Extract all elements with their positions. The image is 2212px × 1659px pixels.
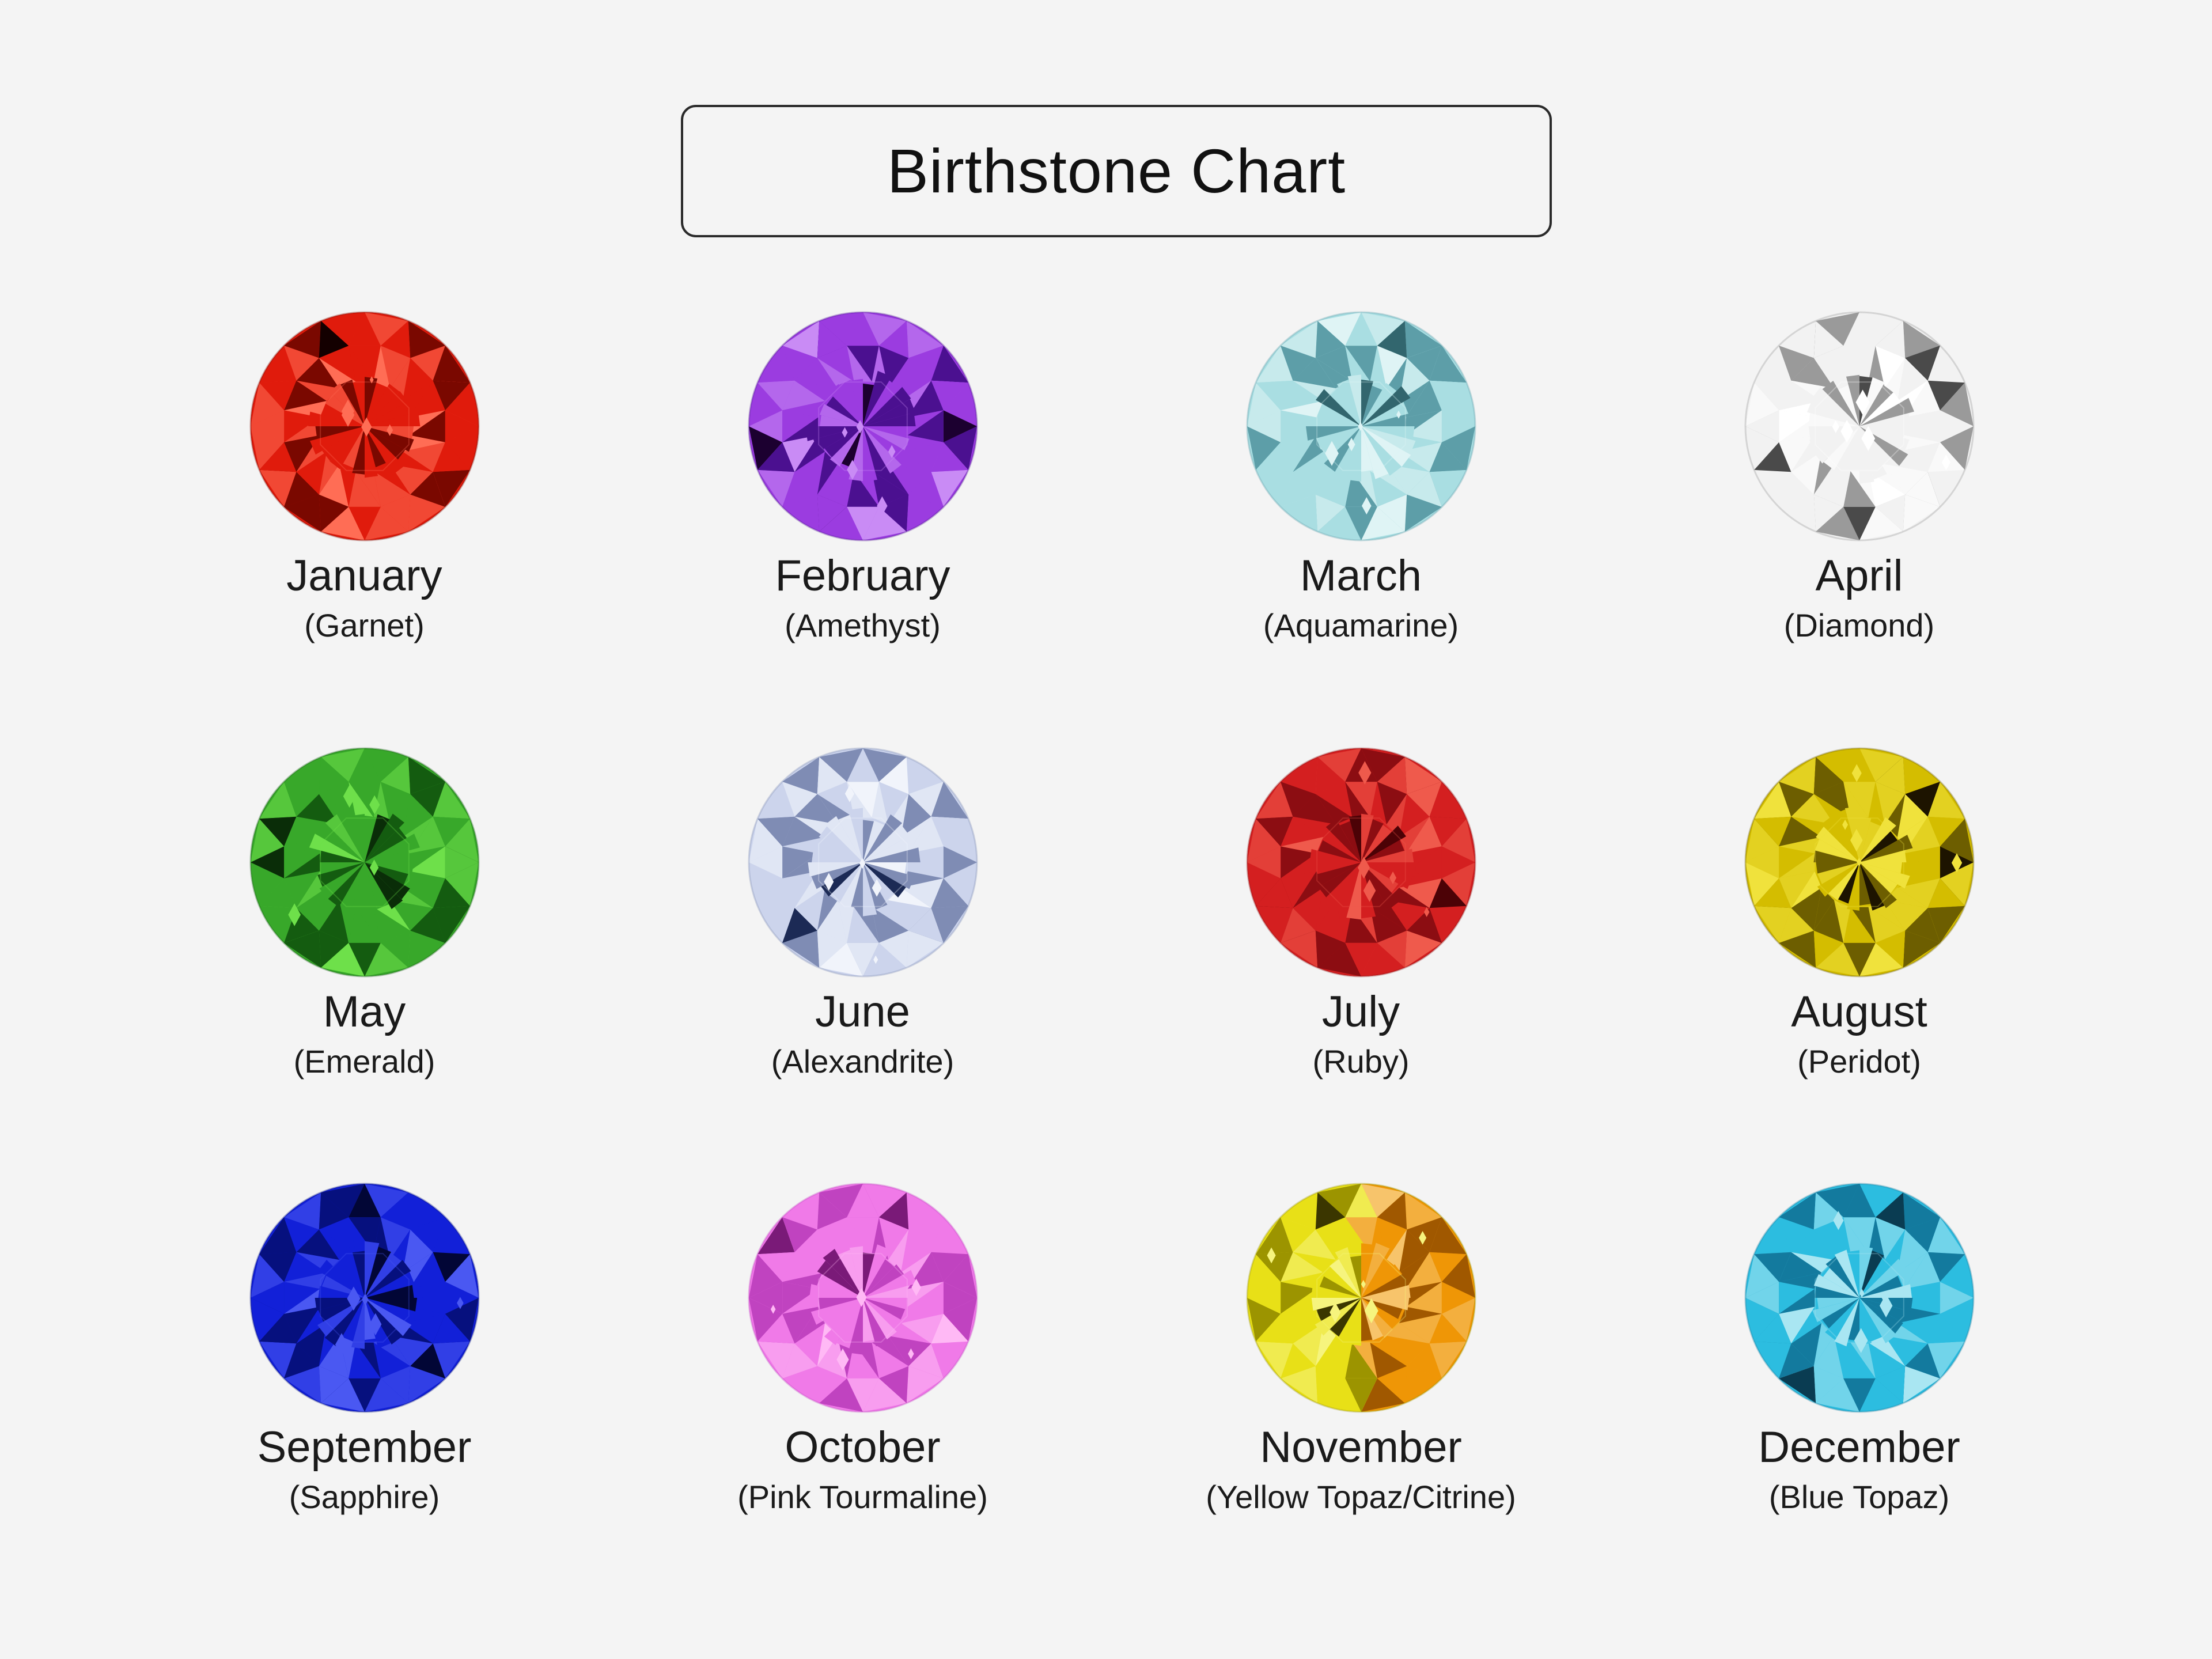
- gem-june-icon: [748, 747, 978, 978]
- gem-december-icon: [1744, 1183, 1975, 1413]
- stone-label: (Garnet): [304, 609, 425, 642]
- birthstone-cell-january[interactable]: January(Garnet): [115, 311, 613, 747]
- gem-september-icon: [249, 1183, 480, 1413]
- chart-title-box: Birthstone Chart: [681, 105, 1552, 237]
- gem-november-icon: [1246, 1183, 1476, 1413]
- birthstone-cell-september[interactable]: September(Sapphire): [115, 1183, 613, 1619]
- gem-may-icon: [249, 747, 480, 978]
- month-label: November: [1260, 1426, 1462, 1469]
- stone-label: (Ruby): [1312, 1046, 1409, 1078]
- birthstone-cell-august[interactable]: August(Peridot): [1610, 747, 2108, 1183]
- birthstone-cell-march[interactable]: March(Aquamarine): [1112, 311, 1610, 747]
- gem-july-icon: [1246, 747, 1476, 978]
- birthstone-cell-april[interactable]: April(Diamond): [1610, 311, 2108, 747]
- month-label: October: [785, 1426, 940, 1469]
- birthstone-cell-july[interactable]: July(Ruby): [1112, 747, 1610, 1183]
- month-label: May: [323, 990, 406, 1034]
- month-label: July: [1322, 990, 1400, 1034]
- stone-label: (Alexandrite): [771, 1046, 954, 1078]
- month-label: April: [1815, 554, 1903, 598]
- birthstone-cell-february[interactable]: February(Amethyst): [613, 311, 1112, 747]
- month-label: December: [1758, 1426, 1960, 1469]
- gem-october-icon: [748, 1183, 978, 1413]
- month-label: September: [257, 1426, 472, 1469]
- gem-april-icon: [1744, 311, 1975, 541]
- gem-march-icon: [1246, 311, 1476, 541]
- birthstone-cell-december[interactable]: December(Blue Topaz): [1610, 1183, 2108, 1619]
- stone-label: (Peridot): [1797, 1046, 1921, 1078]
- page-title: Birthstone Chart: [887, 140, 1346, 202]
- month-label: February: [775, 554, 950, 598]
- gem-january-icon: [249, 311, 480, 541]
- month-label: June: [815, 990, 910, 1034]
- month-label: August: [1791, 990, 1927, 1034]
- gem-february-icon: [748, 311, 978, 541]
- stone-label: (Sapphire): [289, 1481, 440, 1513]
- gem-august-icon: [1744, 747, 1975, 978]
- stone-label: (Emerald): [294, 1046, 435, 1078]
- stone-label: (Aquamarine): [1263, 609, 1459, 642]
- birthstone-cell-may[interactable]: May(Emerald): [115, 747, 613, 1183]
- stone-label: (Pink Tourmaline): [737, 1481, 988, 1513]
- stone-label: (Yellow Topaz/Citrine): [1206, 1481, 1516, 1513]
- stone-label: (Amethyst): [785, 609, 941, 642]
- stone-label: (Diamond): [1784, 609, 1934, 642]
- birthstone-grid: January(Garnet)February(Amethyst)March(A…: [115, 311, 2108, 1619]
- birthstone-cell-june[interactable]: June(Alexandrite): [613, 747, 1112, 1183]
- month-label: March: [1300, 554, 1422, 598]
- month-label: January: [286, 554, 442, 598]
- birthstone-cell-november[interactable]: November(Yellow Topaz/Citrine): [1112, 1183, 1610, 1619]
- stone-label: (Blue Topaz): [1769, 1481, 1949, 1513]
- birthstone-cell-october[interactable]: October(Pink Tourmaline): [613, 1183, 1112, 1619]
